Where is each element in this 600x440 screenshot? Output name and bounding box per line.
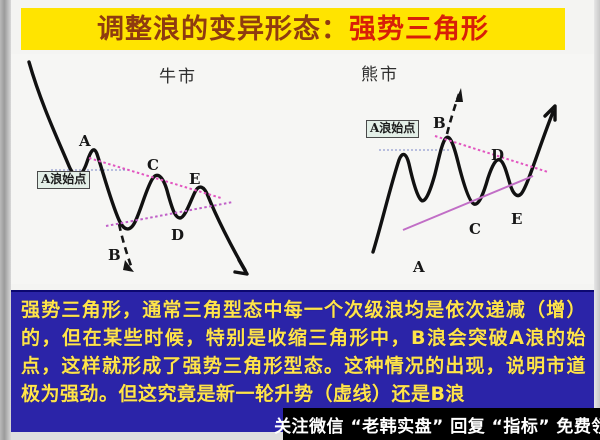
bull-market-chart: A B C D E	[29, 62, 247, 274]
bull-label-C: C	[147, 156, 159, 174]
bull-label-B: B	[108, 246, 121, 264]
charts-panel: 牛市 熊市 A B C	[11, 54, 594, 284]
bear-label-D: D	[491, 146, 504, 164]
bull-wave-path	[29, 62, 245, 270]
title-accent: 强势三角形	[349, 14, 489, 45]
bull-a-start-callout: A浪始点	[37, 171, 90, 189]
page-title: 调整浪的变异形态：强势三角形	[97, 16, 489, 43]
waves-diagram: A B C D E	[11, 54, 594, 284]
bear-label-B: B	[433, 114, 446, 132]
bull-label-E: E	[189, 170, 200, 188]
bear-market-chart: A B C D E	[373, 88, 555, 276]
bear-b-projection-arrowhead	[455, 88, 463, 102]
bear-label-C: C	[469, 220, 481, 238]
description-text: 强势三角形，通常三角型态中每一个次级浪均是依次递减（增）的，但在某些时候，特别是…	[21, 296, 586, 408]
title-banner: 调整浪的变异形态：强势三角形	[21, 8, 565, 50]
bear-label-A: A	[412, 258, 425, 276]
bottom-strip	[11, 432, 283, 440]
title-primary: 调整浪的变异形态：	[97, 14, 349, 45]
bear-label-E: E	[511, 210, 522, 228]
bull-label-D: D	[171, 226, 184, 244]
page-edge-right	[594, 0, 600, 440]
watermark-bar: 关注微信 “老韩实盘” 回复 “指标” 免费领	[283, 408, 600, 440]
bull-label-A: A	[78, 132, 91, 150]
bear-a-start-callout: A浪始点	[366, 120, 419, 138]
watermark-text: 关注微信 “老韩实盘” 回复 “指标” 免费领	[274, 412, 600, 437]
page-edge-left	[0, 0, 11, 440]
slide-page: 调整浪的变异形态：强势三角形 牛市 熊市	[0, 0, 600, 440]
